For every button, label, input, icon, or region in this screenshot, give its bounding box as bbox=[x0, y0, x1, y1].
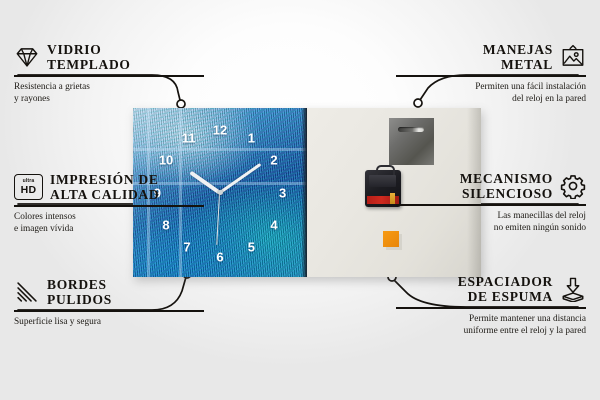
clock-numeral-6: 6 bbox=[216, 250, 223, 263]
feature-espaciador-espuma: ESPACIADOR DE ESPUMA Permite mantener un… bbox=[396, 274, 586, 337]
feature-title: IMPRESIÓN DE ALTA CALIDAD bbox=[50, 172, 159, 202]
feature-description: Superficie lisa y segura bbox=[14, 316, 204, 328]
polished-edge-icon bbox=[14, 279, 40, 305]
feature-title: MANEJAS METAL bbox=[483, 42, 553, 72]
clock-second-hand bbox=[217, 192, 221, 244]
movement-label-band bbox=[367, 196, 399, 204]
clock-numeral-11: 11 bbox=[182, 132, 196, 145]
feature-mecanismo-silencioso: MECANISMO SILENCIOSO Las manecillas del … bbox=[396, 171, 586, 234]
feature-title-line2: ALTA CALIDAD bbox=[50, 187, 159, 202]
clock-numeral-3: 3 bbox=[279, 186, 286, 199]
feature-description: Permiten una fácil instalación del reloj… bbox=[396, 81, 586, 106]
feature-title-line2: PULIDOS bbox=[47, 292, 112, 307]
ultra-hd-icon-big-text: HD bbox=[21, 185, 37, 196]
feature-title: ESPACIADOR DE ESPUMA bbox=[458, 274, 553, 304]
feature-header: ESPACIADOR DE ESPUMA bbox=[396, 274, 586, 304]
feature-manejas-metal: MANEJAS METAL Permiten una fácil instala… bbox=[396, 42, 586, 105]
feature-rule bbox=[14, 310, 204, 312]
feature-impresion-alta-calidad: ultra HD IMPRESIÓN DE ALTA CALIDAD Color… bbox=[14, 172, 204, 235]
metal-hanger-plate bbox=[389, 118, 434, 165]
movement-hanging-loop bbox=[376, 165, 395, 175]
feature-rule bbox=[396, 307, 586, 309]
feature-desc-line1: Permite mantener una distancia bbox=[396, 313, 586, 325]
hanger-slot bbox=[398, 127, 424, 132]
arrow-down-pad-icon bbox=[560, 276, 586, 302]
clock-numeral-12: 12 bbox=[213, 123, 227, 136]
clock-numeral-2: 2 bbox=[270, 154, 277, 167]
feature-title-line1: ESPACIADOR bbox=[458, 274, 553, 289]
feature-desc-line2: del reloj en la pared bbox=[396, 93, 586, 105]
feature-title-line2: TEMPLADO bbox=[47, 57, 131, 72]
feature-title-line2: SILENCIOSO bbox=[460, 186, 553, 201]
feature-title-line2: METAL bbox=[483, 57, 553, 72]
feature-description: Colores intensos e imagen vívida bbox=[14, 211, 204, 236]
clock-numeral-1: 1 bbox=[248, 132, 255, 145]
feature-header: ultra HD IMPRESIÓN DE ALTA CALIDAD bbox=[14, 172, 204, 202]
feature-title: BORDES PULIDOS bbox=[47, 277, 112, 307]
feature-desc-line1: Colores intensos bbox=[14, 211, 204, 223]
ultra-hd-icon: ultra HD bbox=[14, 174, 43, 200]
feature-title-line2: DE ESPUMA bbox=[458, 289, 553, 304]
feature-header: MANEJAS METAL bbox=[396, 42, 586, 72]
feature-rule bbox=[14, 75, 204, 77]
feature-header: MECANISMO SILENCIOSO bbox=[396, 171, 586, 201]
movement-body bbox=[369, 175, 396, 187]
clock-numeral-5: 5 bbox=[248, 240, 255, 253]
gear-icon bbox=[560, 173, 586, 199]
feature-title-line1: BORDES bbox=[47, 277, 112, 292]
feature-title-line1: MANEJAS bbox=[483, 42, 553, 57]
feature-desc-line1: Resistencia a grietas bbox=[14, 81, 204, 93]
feature-rule bbox=[396, 75, 586, 77]
feature-desc-line2: no emiten ningún sonido bbox=[396, 222, 586, 234]
clock-numeral-7: 7 bbox=[183, 240, 190, 253]
feature-vidrio-templado: VIDRIO TEMPLADO Resistencia a grietas y … bbox=[14, 42, 204, 105]
feature-desc-line1: Las manecillas del reloj bbox=[396, 210, 586, 222]
feature-rule bbox=[14, 205, 204, 207]
feature-bordes-pulidos: BORDES PULIDOS Superficie lisa y segura bbox=[14, 277, 204, 328]
feature-title-line1: MECANISMO bbox=[460, 171, 553, 186]
infographic-canvas: 12 1 2 3 4 5 6 7 8 9 10 11 bbox=[0, 0, 600, 400]
diamond-icon bbox=[14, 44, 40, 70]
feature-desc-line2: uniforme entre el reloj y la pared bbox=[396, 325, 586, 337]
clock-numeral-4: 4 bbox=[270, 218, 277, 231]
feature-desc-line1: Superficie lisa y segura bbox=[14, 316, 204, 328]
clock-numeral-10: 10 bbox=[159, 154, 173, 167]
feature-rule bbox=[396, 204, 586, 206]
feature-desc-line1: Permiten una fácil instalación bbox=[396, 81, 586, 93]
feature-desc-line2: y rayones bbox=[14, 93, 204, 105]
feature-description: Permite mantener una distancia uniforme … bbox=[396, 313, 586, 338]
clock-center-pivot bbox=[218, 190, 223, 195]
feature-header: VIDRIO TEMPLADO bbox=[14, 42, 204, 72]
feature-title-line1: IMPRESIÓN DE bbox=[50, 172, 159, 187]
feature-title: MECANISMO SILENCIOSO bbox=[460, 171, 553, 201]
clock-minute-hand bbox=[219, 162, 262, 193]
feature-description: Las manecillas del reloj no emiten ningú… bbox=[396, 210, 586, 235]
feature-desc-line2: e imagen vívida bbox=[14, 223, 204, 235]
feature-description: Resistencia a grietas y rayones bbox=[14, 81, 204, 106]
picture-frame-hanger-icon bbox=[560, 44, 586, 70]
feature-title: VIDRIO TEMPLADO bbox=[47, 42, 131, 72]
feature-title-line1: VIDRIO bbox=[47, 42, 131, 57]
feature-header: BORDES PULIDOS bbox=[14, 277, 204, 307]
